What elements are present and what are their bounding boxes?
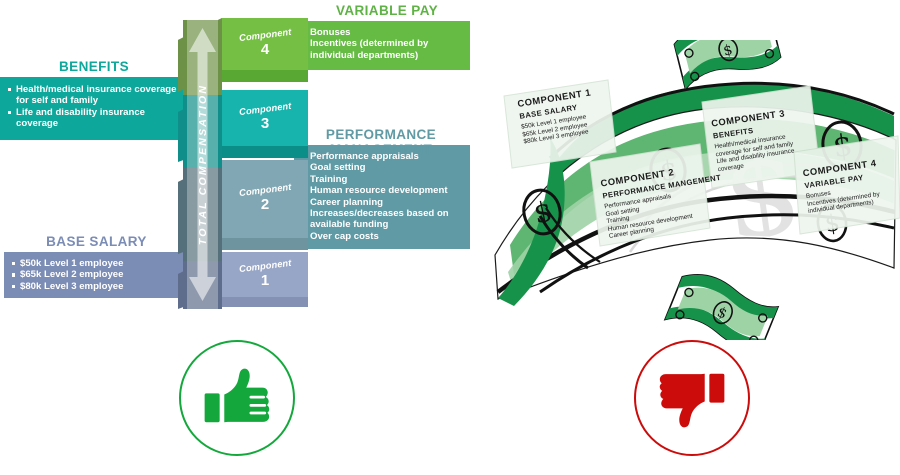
- block-4-number: 4: [261, 41, 269, 58]
- block-1-face: Component 1: [222, 252, 308, 297]
- total-compensation-tower-diagram: VARIABLE PAY Bonuses Incentives (determi…: [0, 0, 470, 330]
- thumbs-down-badge: [634, 340, 750, 456]
- list-item: Goal setting: [301, 162, 462, 173]
- callout-variable-pay-title: VARIABLE PAY: [304, 3, 470, 18]
- money-card-component-3: COMPONENT 3 BENEFITS Health/medical insu…: [710, 107, 796, 174]
- list-item: $80k Level 3 employee: [11, 281, 181, 292]
- callout-benefits-list: Health/medical insurance coverage for se…: [7, 84, 180, 130]
- money-illustration: $ $ $ $: [480, 40, 900, 340]
- list-item: Human resource development: [301, 185, 462, 196]
- list-item: Bonuses: [301, 27, 462, 38]
- list-item: Life and disability insurance coverage: [7, 107, 180, 130]
- list-item: Career planning: [301, 197, 462, 208]
- list-item: Incentives (determined by individual dep…: [301, 38, 462, 61]
- block-4-face: Component 4: [222, 18, 308, 70]
- block-2-number: 2: [261, 196, 269, 213]
- callout-performance-management-list: Performance appraisals Goal setting Trai…: [301, 151, 462, 242]
- callout-benefits: BENEFITS Health/medical insurance covera…: [0, 77, 188, 140]
- list-item: $65k Level 2 employee: [11, 269, 181, 280]
- callout-base-salary-list: $50k Level 1 employee $65k Level 2 emplo…: [11, 258, 181, 292]
- callout-benefits-title: BENEFITS: [0, 59, 188, 74]
- thumbs-down-icon: [655, 361, 729, 435]
- callout-performance-management: PERFORMANCE MANAGEMENT Performance appra…: [294, 145, 470, 249]
- callout-variable-pay-list: Bonuses Incentives (determined by indivi…: [301, 27, 462, 61]
- list-item: Training: [301, 174, 462, 185]
- infographic-canvas: VARIABLE PAY Bonuses Incentives (determi…: [0, 0, 900, 475]
- list-item: Increases/decreases based on available f…: [301, 208, 462, 231]
- axis-glass-overlay: [187, 20, 218, 309]
- total-compensation-axis: TOTAL COMPENSATION: [183, 20, 222, 309]
- callout-variable-pay: VARIABLE PAY Bonuses Incentives (determi…: [294, 21, 470, 70]
- list-item: $50k Level 1 employee: [11, 258, 181, 269]
- block-3-face: Component 3: [222, 90, 308, 146]
- block-2-face: Component 2: [222, 160, 308, 238]
- block-1-number: 1: [261, 272, 269, 289]
- thumbs-up-badge: [179, 340, 295, 456]
- callout-base-salary-title: BASE SALARY: [4, 234, 189, 249]
- money-card-component-4: COMPONENT 4 VARIABLE PAY Bonuses Incenti…: [802, 157, 882, 216]
- callout-base-salary: BASE SALARY $50k Level 1 employee $65k L…: [4, 252, 189, 298]
- list-item: Health/medical insurance coverage for se…: [7, 84, 180, 107]
- thumbs-up-icon: [200, 361, 274, 435]
- list-item: Performance appraisals: [301, 151, 462, 162]
- list-item: Over cap costs: [301, 231, 462, 242]
- block-3-number: 3: [261, 115, 269, 132]
